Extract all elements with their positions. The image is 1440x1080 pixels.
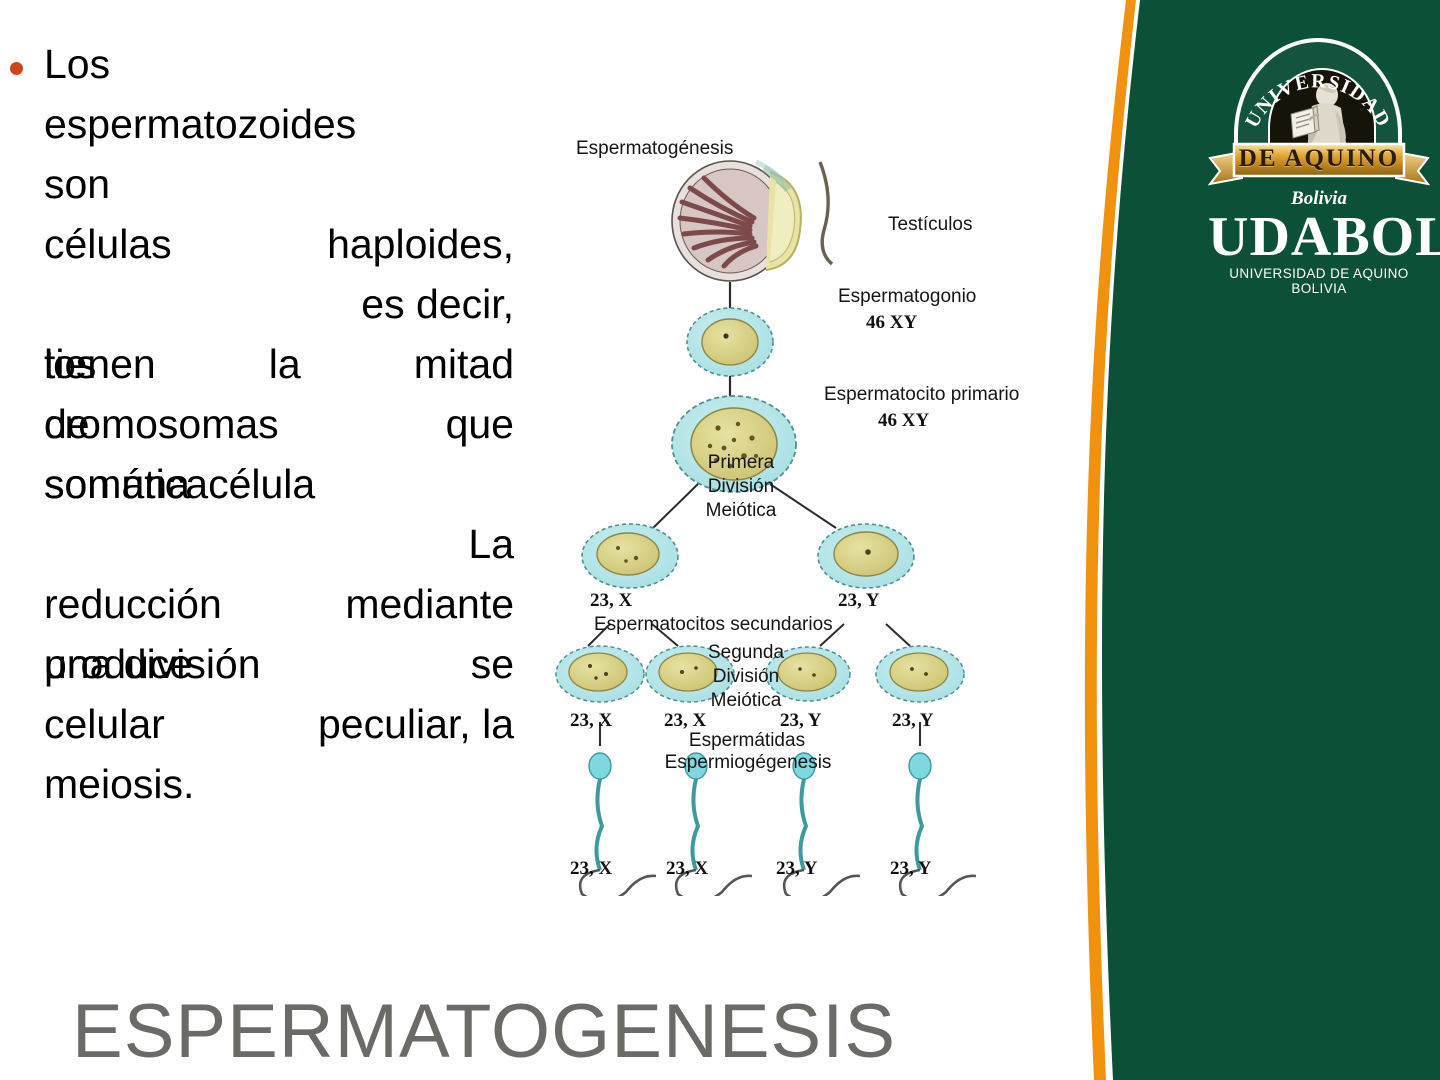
text-line-1: Los <box>44 34 514 94</box>
text-line-5: es decir, <box>44 274 514 334</box>
spermatid-cell-1 <box>556 646 644 702</box>
label-sperm-karyotype-1: 23, X <box>570 858 612 880</box>
label-segunda-division-line3: Meiótica <box>688 690 804 712</box>
text-line-9: La <box>44 514 514 574</box>
gold-banner: DE AQUINO <box>1208 138 1430 186</box>
secondary-spermatocyte-cell-left <box>582 524 678 588</box>
svg-text:UNIVERSIDAD: UNIVERSIDAD <box>1241 70 1395 131</box>
label-secondary-karyotype-left: 23, X <box>590 590 632 612</box>
label-sperm-karyotype-2: 23, X <box>666 858 708 880</box>
text-line-2: espermatozoides <box>44 94 514 154</box>
label-espermatogonio-karyotype: 46 XY <box>866 312 917 334</box>
label-espermiogenesis: Espermiogégenesis <box>630 752 866 774</box>
text-line-4-word-1: células <box>44 214 172 274</box>
label-segunda-division-line1: Segunda <box>688 642 804 664</box>
label-spermatid-karyotype-3: 23, Y <box>780 710 822 732</box>
connector-line <box>886 624 910 646</box>
label-espermatocito-primario: Espermatocito primario <box>824 384 1019 406</box>
text-line-4-word-2: haploides, <box>327 214 514 274</box>
text-line-11-overlap: produce <box>44 634 192 694</box>
text-line-12: celular peculiar, la <box>44 694 514 754</box>
bullet-marker <box>10 62 23 75</box>
label-spermatid-karyotype-1: 23, X <box>570 710 612 732</box>
text-line-5-content: es decir, <box>361 281 514 327</box>
banner-text: DE AQUINO <box>1208 145 1430 173</box>
label-espermatocito-primario-karyotype: 46 XY <box>878 410 929 432</box>
text-line-7-word-2: que <box>446 394 514 454</box>
slide-canvas: UNIVERSIDAD <box>0 0 1440 1080</box>
text-line-2-content: espermatozoides <box>44 101 356 147</box>
arch-word-text: UNIVERSIDAD <box>1241 70 1395 131</box>
label-espermatogonio: Espermatogonio <box>838 286 976 308</box>
label-primera-division-line3: Meiótica <box>684 500 798 522</box>
text-line-10: reducción mediante <box>44 574 514 634</box>
text-line-6-overlap: los <box>44 334 96 394</box>
body-paragraph: Los espermatozoides son células haploide… <box>44 34 514 814</box>
spermatid-cell-4 <box>876 646 964 702</box>
text-line-10-word-1: reducción <box>44 574 222 634</box>
text-line-8: somáticacélula son una <box>44 454 514 514</box>
text-line-13-content: meiosis. <box>44 761 194 807</box>
text-line-11-word-2: se <box>471 634 514 694</box>
label-secondary-karyotype-right: 23, Y <box>838 590 880 612</box>
text-line-1-content: Los <box>44 41 110 87</box>
label-testiculos: Testículos <box>888 214 972 236</box>
spermatogenesis-diagram: Espermatogénesis Testículos Espermatogon… <box>548 126 1108 896</box>
label-espermatocitos-secundarios: Espermatocitos secundarios <box>594 614 833 636</box>
text-line-12-word-2: peculiar, la <box>318 694 514 754</box>
label-sperm-karyotype-4: 23, Y <box>890 858 932 880</box>
testis-illustration <box>672 161 832 281</box>
label-spermatid-karyotype-2: 23, X <box>664 710 706 732</box>
text-line-9-content: La <box>468 521 514 567</box>
label-primera-division-line1: Primera <box>684 452 798 474</box>
text-line-6-word-2: la <box>269 334 301 394</box>
slide-title: ESPERMATOGENESIS <box>72 990 1012 1074</box>
text-line-12-word-1: celular <box>44 694 165 754</box>
logo-acronym: UDABOL <box>1208 208 1430 266</box>
secondary-spermatocyte-cell-right <box>818 524 914 588</box>
label-spermatid-karyotype-4: 23, Y <box>892 710 934 732</box>
spermatogonium-cell <box>687 308 773 376</box>
label-espermatidas: Espermátidas <box>652 730 842 752</box>
text-line-7: cromosomas que de <box>44 394 514 454</box>
label-sperm-karyotype-3: 23, Y <box>776 858 818 880</box>
text-line-3-content: son <box>44 161 110 207</box>
label-segunda-division-line2: División <box>688 666 804 688</box>
diagram-heading: Espermatogénesis <box>576 138 733 160</box>
text-line-10-word-2: mediante <box>345 574 514 634</box>
text-line-7-overlap: de <box>44 394 90 454</box>
text-line-6: tienen la mitad los <box>44 334 514 394</box>
text-line-6-word-3: mitad <box>414 334 514 394</box>
text-line-3: son <box>44 154 514 214</box>
text-line-8-overlap: son una <box>44 454 190 514</box>
label-primera-division-line2: División <box>684 476 798 498</box>
text-line-4: células haploides, <box>44 214 514 274</box>
text-line-11: una división se produce <box>44 634 514 694</box>
text-line-13: meiosis. <box>44 754 514 814</box>
udabol-logo: UNIVERSIDAD <box>1208 38 1430 268</box>
logo-subtitle: UNIVERSIDAD DE AQUINO BOLIVIA <box>1208 266 1430 296</box>
text-line-8-word-2: célula <box>208 461 315 507</box>
